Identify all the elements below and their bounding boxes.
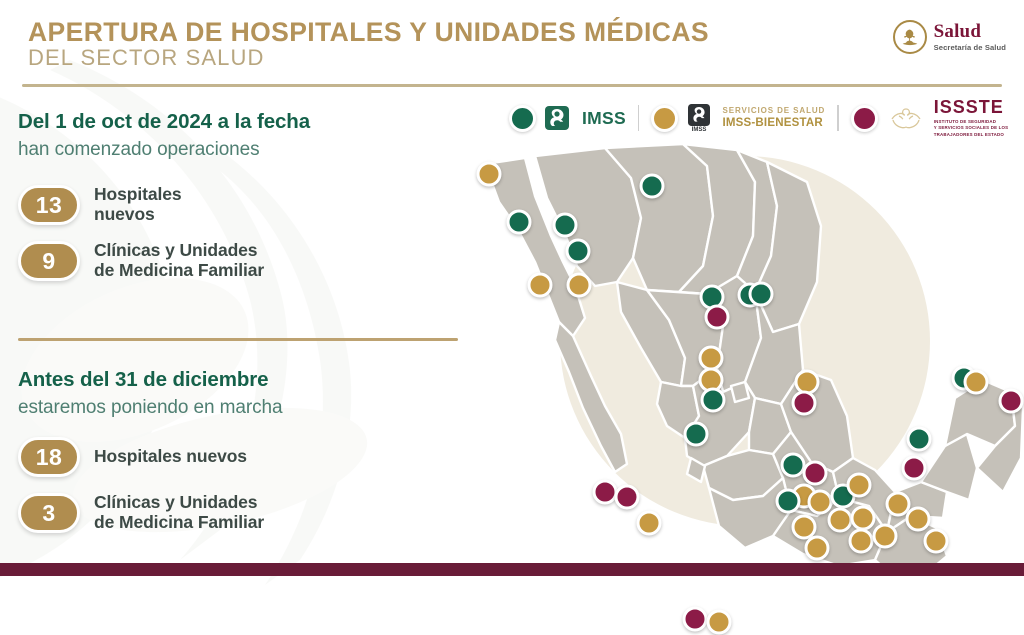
map-marker[interactable]: [847, 473, 872, 498]
map-marker[interactable]: [792, 391, 817, 416]
stat-row-hospitales-nuevos-2: 18 Hospitales nuevos: [18, 437, 458, 477]
map-marker[interactable]: [851, 506, 876, 531]
bottom-accent-bar: [0, 563, 1024, 576]
map-marker[interactable]: [805, 536, 830, 561]
map-marker[interactable]: [906, 507, 931, 532]
map-marker[interactable]: [477, 162, 502, 187]
page-header: APERTURA DE HOSPITALES Y UNIDADES MÉDICA…: [0, 0, 1024, 78]
page-title: APERTURA DE HOSPITALES Y UNIDADES MÉDICA…: [28, 17, 709, 48]
legend-item-imss[interactable]: IMSS: [497, 104, 638, 132]
legend-label-imss-bienestar: IMSS-BIENESTAR: [722, 117, 825, 129]
map-marker[interactable]: [683, 607, 708, 632]
map-marker[interactable]: [707, 610, 732, 635]
map-marker[interactable]: [907, 427, 932, 452]
legend-item-imss-bienestar[interactable]: IMSS SERVICIOS DE SALUD IMSS-BIENESTAR: [639, 103, 837, 133]
map-marker[interactable]: [507, 210, 532, 235]
stat-row-clinicas-2: 3 Clínicas y Unidades de Medicina Famili…: [18, 493, 458, 533]
map-marker[interactable]: [553, 213, 578, 238]
stat-value-badge-18: 18: [18, 437, 80, 477]
mexico-eagle-emblem-icon: [893, 20, 927, 54]
imss-eagle-logo-icon: [544, 104, 574, 132]
stat-row-hospitales-nuevos-1: 13 Hospitales nuevos: [18, 185, 458, 225]
salud-logo-title: Salud: [934, 22, 1006, 41]
svg-text:IMSS: IMSS: [692, 127, 707, 133]
map-marker[interactable]: [637, 511, 662, 536]
legend-dot-issste: [851, 105, 878, 132]
map-marker[interactable]: [808, 490, 833, 515]
header-divider: [22, 84, 1002, 87]
salud-logo-subtitle: Secretaría de Salud: [934, 44, 1006, 52]
stats-block-desde-octubre: Del 1 de oct de 2024 a la fecha han come…: [18, 110, 458, 281]
page-subtitle: DEL SECTOR SALUD: [28, 45, 264, 71]
legend-label-issste: ISSSTE: [934, 98, 1009, 117]
map-marker[interactable]: [567, 273, 592, 298]
issste-hands-logo-icon: [886, 103, 926, 133]
map-marker[interactable]: [684, 422, 709, 447]
institution-legend: IMSS IMSS SERVICIOS DE SALUD IMSS-BIENES…: [497, 96, 1020, 140]
map-marker[interactable]: [749, 282, 774, 307]
block-title-1: Del 1 de oct de 2024 a la fecha: [18, 110, 458, 134]
stat-label-18: Hospitales nuevos: [94, 447, 247, 467]
map-marker[interactable]: [705, 305, 730, 330]
stat-value-badge-9: 9: [18, 241, 80, 281]
stat-label-13: Hospitales nuevos: [94, 185, 182, 224]
map-marker[interactable]: [902, 456, 927, 481]
legend-dot-imss: [509, 105, 536, 132]
imss-bienestar-logo-icon: IMSS: [686, 103, 714, 133]
legend-item-issste[interactable]: ISSSTE INSTITUTO DE SEGURIDAD Y SERVICIO…: [839, 98, 1021, 139]
block-title-2: Antes del 31 de diciembre: [18, 368, 458, 392]
map-marker[interactable]: [701, 388, 726, 413]
mexico-map-shapes: [455, 86, 1024, 564]
block-subtitle-1: han comenzado operaciones: [18, 139, 458, 161]
map-marker[interactable]: [828, 508, 853, 533]
stat-value-badge-13: 13: [18, 185, 80, 225]
block-subtitle-2: estaremos poniendo en marcha: [18, 397, 458, 419]
map-marker[interactable]: [528, 273, 553, 298]
map-marker[interactable]: [999, 389, 1024, 414]
stat-row-clinicas-1: 9 Clínicas y Unidades de Medicina Famili…: [18, 241, 458, 281]
stats-block-antes-diciembre: Antes del 31 de diciembre estaremos poni…: [18, 368, 458, 533]
legend-label-imss: IMSS: [582, 109, 626, 127]
panel-divider: [18, 338, 458, 341]
mexico-map[interactable]: [455, 86, 1024, 564]
map-marker[interactable]: [803, 461, 828, 486]
map-marker[interactable]: [593, 480, 618, 505]
map-marker[interactable]: [566, 239, 591, 264]
map-marker[interactable]: [849, 529, 874, 554]
map-marker[interactable]: [873, 524, 898, 549]
map-marker[interactable]: [640, 174, 665, 199]
legend-dot-imss-bienestar: [651, 105, 678, 132]
map-marker[interactable]: [964, 370, 989, 395]
stat-label-3: Clínicas y Unidades de Medicina Familiar: [94, 493, 264, 532]
stat-value-badge-3: 3: [18, 493, 80, 533]
map-marker[interactable]: [776, 489, 801, 514]
map-marker[interactable]: [615, 485, 640, 510]
stat-label-9: Clínicas y Unidades de Medicina Familiar: [94, 241, 264, 280]
salud-logo: Salud Secretaría de Salud: [893, 14, 1006, 60]
map-marker[interactable]: [924, 529, 949, 554]
legend-toplabel-imss-bienestar: SERVICIOS DE SALUD: [722, 107, 825, 115]
legend-sublabel-issste: INSTITUTO DE SEGURIDAD Y SERVICIOS SOCIA…: [934, 119, 1009, 139]
